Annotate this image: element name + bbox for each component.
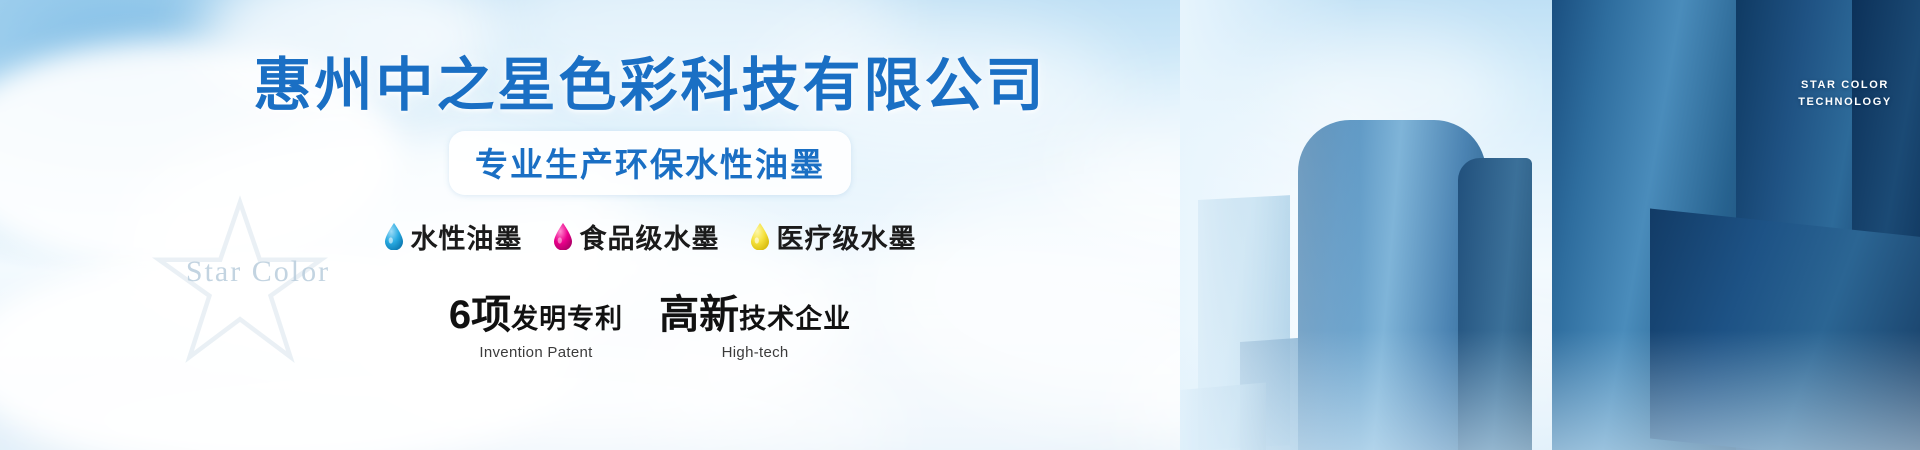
building-brand-line-1: STAR COLOR [1786,77,1904,94]
tagline-text: 专业生产环保水性油墨 [475,146,825,183]
tagline-pill: 专业生产环保水性油墨 [449,131,851,195]
water-drop-icon [384,223,404,250]
building-brand-logo: STAR COLOR TECHNOLOGY [1786,77,1904,111]
company-hero-banner: Star Color STAR COLOR TECHNOLOGY 惠州中之星色彩… [0,0,1920,450]
feature-label: 医疗级水墨 [777,217,917,256]
building-brand-line-2: TECHNOLOGY [1786,94,1904,111]
banner-content: 惠州中之星色彩科技有限公司 专业生产环保水性油墨 水性油墨 [0,0,1300,450]
badge-highlight: 6项 [449,282,511,340]
badge-english-label: High-tech [722,344,789,361]
water-drop-icon [750,223,770,250]
credential-badges: 6项 发明专利 Invention Patent 高新 技术企业 High-te… [449,282,851,361]
badge-english-label: Invention Patent [479,344,592,361]
badge-title-line: 6项 发明专利 [449,282,623,340]
badge-highlight: 高新 [659,282,739,340]
badge-high-tech: 高新 技术企业 High-tech [659,282,851,361]
feature-item-medical-grade-ink: 医疗级水墨 [750,217,917,256]
feature-label: 食品级水墨 [580,217,720,256]
feature-list: 水性油墨 食品级水墨 [384,217,917,256]
badge-subtext: 发明专利 [511,297,623,336]
badge-title-line: 高新 技术企业 [659,282,851,340]
badge-subtext: 技术企业 [739,297,851,336]
company-title: 惠州中之星色彩科技有限公司 [253,56,1046,117]
badge-invention-patent: 6项 发明专利 Invention Patent [449,282,623,361]
feature-item-water-ink: 水性油墨 [384,217,523,256]
water-drop-icon [553,223,573,250]
feature-label: 水性油墨 [411,217,523,256]
feature-item-food-grade-ink: 食品级水墨 [553,217,720,256]
